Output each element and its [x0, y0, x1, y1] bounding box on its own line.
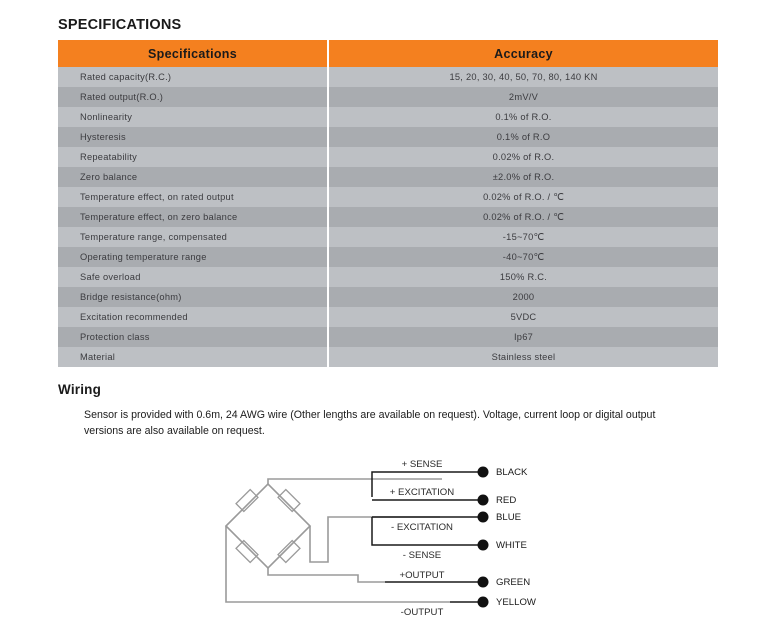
- specifications-table: Specifications Accuracy Rated capacity(R…: [58, 40, 718, 367]
- spec-value-cell: 0.02% of R.O. / ℃: [328, 207, 718, 227]
- spec-name-cell: Material: [58, 347, 328, 367]
- table-row: Rated output(R.O.)2mV/V: [58, 87, 718, 107]
- spec-name-cell: Rated output(R.O.): [58, 87, 328, 107]
- wire-color-blue: BLUE: [496, 512, 521, 523]
- table-row: Rated capacity(R.C.)15, 20, 30, 40, 50, …: [58, 67, 718, 87]
- table-row: Excitation recommended5VDC: [58, 307, 718, 327]
- spec-name-cell: Excitation recommended: [58, 307, 328, 327]
- table-row: Protection classIp67: [58, 327, 718, 347]
- spec-name-cell: Zero balance: [58, 167, 328, 187]
- spec-value-cell: -15~70℃: [328, 227, 718, 247]
- signal-label-output-plus: +OUTPUT: [399, 570, 444, 581]
- table-header-row: Specifications Accuracy: [58, 40, 718, 67]
- wire-color-labels: BLACK RED BLUE WHITE GREEN YELLOW: [496, 467, 537, 608]
- spec-value-cell: 0.1% of R.O: [328, 127, 718, 147]
- table-row: Safe overload150% R.C.: [58, 267, 718, 287]
- spec-name-cell: Temperature effect, on rated output: [58, 187, 328, 207]
- wire-color-red: RED: [496, 495, 516, 506]
- table-row: Zero balance±2.0% of R.O.: [58, 167, 718, 187]
- table-row: Nonlinearity0.1% of R.O.: [58, 107, 718, 127]
- wiring-heading: Wiring: [58, 382, 101, 397]
- spec-name-cell: Hysteresis: [58, 127, 328, 147]
- wiring-diagram: + SENSE + EXCITATION - EXCITATION - SENS…: [210, 452, 570, 627]
- spec-name-cell: Protection class: [58, 327, 328, 347]
- table-row: Operating temperature range-40~70℃: [58, 247, 718, 267]
- signal-label-sense-plus: + SENSE: [402, 459, 443, 470]
- signal-label-excitation-plus: + EXCITATION: [390, 487, 454, 498]
- spec-name-cell: Temperature effect, on zero balance: [58, 207, 328, 227]
- spec-name-cell: Temperature range, compensated: [58, 227, 328, 247]
- spec-value-cell: 2mV/V: [328, 87, 718, 107]
- spec-value-cell: 150% R.C.: [328, 267, 718, 287]
- table-row: Bridge resistance(ohm)2000: [58, 287, 718, 307]
- spec-name-cell: Nonlinearity: [58, 107, 328, 127]
- table-row: Temperature effect, on rated output0.02%…: [58, 187, 718, 207]
- wheatstone-bridge-icon: [226, 484, 310, 568]
- signal-label-output-minus: -OUTPUT: [401, 607, 444, 618]
- spec-value-cell: 0.02% of R.O. / ℃: [328, 187, 718, 207]
- spec-value-cell: 15, 20, 30, 40, 50, 70, 80, 140 KN: [328, 67, 718, 87]
- column-header-accuracy: Accuracy: [328, 40, 718, 67]
- wiring-description: Sensor is provided with 0.6m, 24 AWG wir…: [84, 407, 692, 439]
- spec-name-cell: Bridge resistance(ohm): [58, 287, 328, 307]
- page-title: SPECIFICATIONS: [58, 17, 181, 33]
- spec-value-cell: 2000: [328, 287, 718, 307]
- table-row: Repeatability0.02% of R.O.: [58, 147, 718, 167]
- column-header-specifications: Specifications: [58, 40, 328, 67]
- spec-name-cell: Repeatability: [58, 147, 328, 167]
- spec-value-cell: -40~70℃: [328, 247, 718, 267]
- spec-name-cell: Operating temperature range: [58, 247, 328, 267]
- signal-labels: + SENSE + EXCITATION - EXCITATION - SENS…: [390, 459, 454, 618]
- table-row: Hysteresis0.1% of R.O: [58, 127, 718, 147]
- wire-color-green: GREEN: [496, 577, 530, 588]
- wire-color-white: WHITE: [496, 540, 527, 551]
- table-row: MaterialStainless steel: [58, 347, 718, 367]
- terminal-dots: [478, 467, 489, 608]
- spec-value-cell: 0.1% of R.O.: [328, 107, 718, 127]
- table-row: Temperature range, compensated-15~70℃: [58, 227, 718, 247]
- spec-value-cell: Stainless steel: [328, 347, 718, 367]
- signal-label-excitation-minus: - EXCITATION: [391, 522, 453, 533]
- spec-name-cell: Safe overload: [58, 267, 328, 287]
- table-row: Temperature effect, on zero balance0.02%…: [58, 207, 718, 227]
- wire-color-yellow: YELLOW: [496, 597, 537, 608]
- spec-value-cell: ±2.0% of R.O.: [328, 167, 718, 187]
- spec-value-cell: 0.02% of R.O.: [328, 147, 718, 167]
- spec-value-cell: 5VDC: [328, 307, 718, 327]
- signal-label-sense-minus: - SENSE: [403, 550, 441, 561]
- wire-color-black: BLACK: [496, 467, 528, 478]
- spec-value-cell: Ip67: [328, 327, 718, 347]
- spec-name-cell: Rated capacity(R.C.): [58, 67, 328, 87]
